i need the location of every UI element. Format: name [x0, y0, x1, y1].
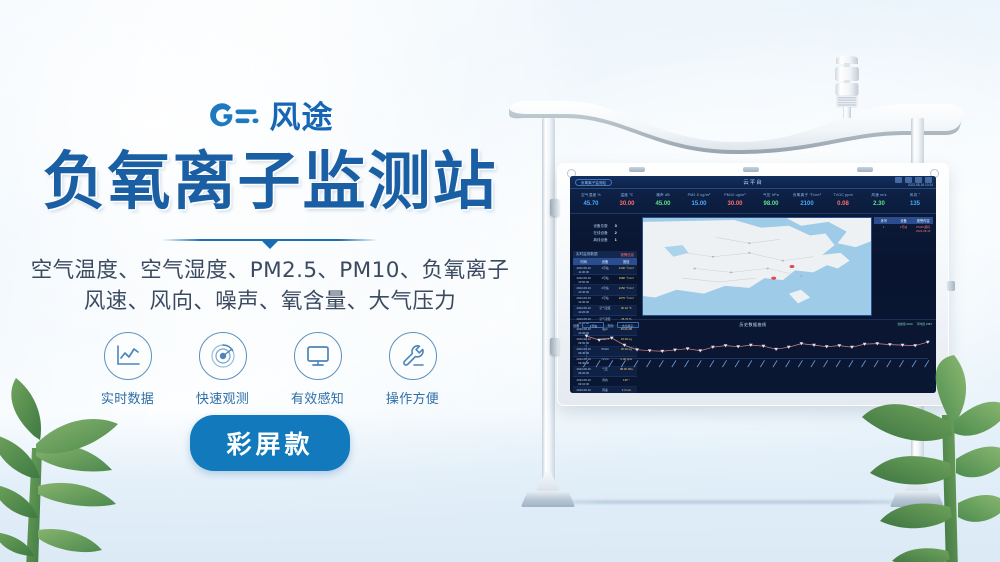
- table-cell-time: 2023-08-16 10:30:00: [573, 296, 594, 304]
- legend-item: 平均值 1987: [917, 322, 932, 326]
- metric-name: 温度 ℃: [609, 191, 645, 199]
- metric-card: 空气湿度 % 45.70: [573, 191, 609, 213]
- subtitle-line-2: 风速、风向、噪声、氧含量、大气压力: [0, 287, 540, 318]
- alarm-tag[interactable]: 报警信息: [620, 252, 634, 257]
- table-cell-device: 风向: [594, 378, 615, 386]
- grid-icon[interactable]: [895, 177, 902, 183]
- metric-card: TVOC ppm 0.08: [825, 191, 861, 213]
- windroad-g-logo-icon: [207, 100, 261, 136]
- wrench-icon: [400, 343, 426, 369]
- alarm-message: PM10 超标 2023-08-16: [913, 225, 933, 233]
- chart-metric-select[interactable]: 负氧离子: [617, 322, 639, 328]
- page-title: 负氧离子监测站: [0, 149, 540, 215]
- table-cell-value: 2075 个/cm³: [616, 296, 637, 304]
- ultrasonic-weather-sensor: [827, 52, 867, 118]
- table-row[interactable]: 2023-08-16 10:20:00空气温度30.10 ℃: [573, 306, 637, 316]
- alarm-row: 1 2号站 PM10 超标 2023-08-16: [874, 224, 933, 234]
- subtitle: 空气温度、空气湿度、PM2.5、PM10、负氧离子 风速、风向、噪声、氧含量、大…: [0, 256, 540, 317]
- decorative-leaves-right: [850, 355, 1000, 562]
- table-cell-value: 2.3 m/s: [616, 388, 637, 393]
- legend-item: 当前值 2100: [897, 322, 912, 326]
- dashboard-clock: 2023-08-16 10:24: [908, 183, 933, 187]
- metric-name: 风向 °: [897, 191, 933, 199]
- table-cell-device: 1号站: [594, 266, 615, 274]
- stat-value: 1: [615, 237, 617, 244]
- table-cell-value: 135 °: [616, 378, 637, 386]
- base-gusset-left: [535, 471, 561, 493]
- feature-item-easy-operation[interactable]: 操作方便: [383, 332, 443, 407]
- data-table-header: 实时监测数据 报警信息: [573, 251, 637, 258]
- table-row[interactable]: 2023-08-16 10:40:002号站2150 个/cm³: [573, 285, 637, 295]
- cabinet-mount-tab: [857, 167, 873, 172]
- table-cell-device: 2号站: [594, 286, 615, 294]
- feature-label: 有效感知: [288, 388, 348, 407]
- metric-strip: 空气湿度 % 45.70 温度 ℃ 30.00 噪声 dB 45.00 PM: [570, 189, 936, 214]
- metric-name: 噪声 dB: [645, 191, 681, 199]
- dashboard-body: 设备总数 3 在线设备 2 离线设备 1: [570, 214, 936, 319]
- table-cell-value: 30.10 ℃: [616, 306, 637, 314]
- line-chart-icon: [115, 344, 141, 368]
- metric-name: 空气湿度 %: [573, 191, 609, 199]
- metric-value: 45.70: [573, 199, 609, 210]
- dashboard-topbar: 负氧离子监测站 云平台 2023-08-16 10:24: [570, 176, 936, 189]
- table-cell-time: 2023-08-16 09:10:00: [573, 378, 594, 386]
- title-divider: [0, 235, 540, 251]
- metric-value: 30.00: [717, 199, 753, 210]
- device-stats: 设备总数 3 在线设备 2 离线设备 1: [573, 217, 637, 248]
- metric-name: 风速 m/s: [861, 191, 897, 199]
- table-cell-device: 风速: [594, 388, 615, 393]
- table-cell-time: 2023-08-16 09:00:00: [573, 388, 594, 393]
- feature-circle: [294, 332, 342, 380]
- color-screen-model-button[interactable]: 彩屏款: [190, 415, 349, 471]
- table-title: 实时监测数据: [576, 252, 598, 257]
- stat-value: 2: [615, 230, 617, 237]
- chart-device-select[interactable]: 1号站: [582, 322, 604, 328]
- cabinet-mount-tab: [629, 167, 645, 172]
- cabinet-hinge: [550, 199, 559, 216]
- feature-item-fast-observation[interactable]: 快速观测: [193, 332, 253, 407]
- base-plate-left: [521, 491, 575, 507]
- station-selector-pill[interactable]: 负氧离子监测站: [575, 179, 612, 186]
- cabinet-mount-tab: [743, 167, 759, 172]
- table-column-headers: 时间 设备 数值: [573, 258, 637, 265]
- table-cell-time: 2023-08-16 10:20:00: [573, 306, 594, 314]
- table-cell-device: 1号站: [594, 276, 615, 284]
- feature-circle: [199, 332, 247, 380]
- monitor-screen-icon: [305, 344, 331, 368]
- banner-stage: 风途 负氧离子监测站 空气温度、空气湿度、PM2.5、PM10、负氧离子 风速、…: [0, 0, 1000, 562]
- chart-metric-label: 指标: [607, 323, 613, 328]
- dashboard-title: 云平台: [743, 178, 763, 186]
- column-header: 设备: [894, 217, 914, 224]
- stat-row: 设备总数 3: [573, 223, 637, 230]
- table-cell-value: 2100 个/cm³: [616, 266, 637, 274]
- metric-card: 温度 ℃ 30.00: [609, 191, 645, 213]
- metric-value: 30.00: [609, 199, 645, 210]
- table-cell-time: 2023-08-16 10:40:00: [573, 286, 594, 294]
- table-row[interactable]: 2023-08-16 10:50:001号站1980 个/cm³: [573, 275, 637, 285]
- stat-row: 在线设备 2: [573, 230, 637, 237]
- alarm-table-header: 序号 设备 报警内容: [874, 217, 933, 224]
- support-post-left: [542, 118, 555, 500]
- table-row[interactable]: 2023-08-16 10:30:001号站2075 个/cm³: [573, 296, 637, 306]
- metric-card: PM10 ug/m³ 30.00: [717, 191, 753, 213]
- alarm-no: 1: [874, 225, 894, 233]
- column-header: 数值: [616, 259, 637, 264]
- metric-card: PM2.5 ug/m³ 15.00: [681, 191, 717, 213]
- metric-value: 0.08: [825, 199, 861, 210]
- table-row[interactable]: 2023-08-16 09:10:00风向135 °: [573, 377, 637, 387]
- column-header: 时间: [573, 259, 594, 264]
- table-cell-value: 1980 个/cm³: [616, 276, 637, 284]
- metric-name: PM10 ug/m³: [717, 191, 753, 199]
- divider-triangle-icon: [261, 240, 279, 249]
- brand-logo: 风途: [0, 100, 540, 136]
- feature-item-effective-sensing[interactable]: 有效感知: [288, 332, 348, 407]
- column-header: 序号: [874, 217, 894, 224]
- table-cell-device: 1号站: [594, 296, 615, 304]
- brand-name: 风途: [270, 103, 334, 134]
- decorative-leaves-left: [0, 378, 167, 562]
- metric-value: 2100: [789, 199, 825, 210]
- alarm-device: 2号站: [894, 225, 914, 233]
- column-header: 报警内容: [913, 217, 933, 224]
- table-cell-time: 2023-08-16 10:50:00: [573, 276, 594, 284]
- metric-card: 负氧离子 个/cm³ 2100: [789, 191, 825, 213]
- table-cell-time: 2023-08-16 11:00:00: [573, 266, 594, 274]
- metric-card: 噪声 dB 45.00: [645, 191, 681, 213]
- stat-label: 在线设备: [593, 230, 607, 237]
- metric-value: 45.00: [645, 199, 681, 210]
- cabinet-hinge: [550, 338, 559, 355]
- metric-value: 15.00: [681, 199, 717, 210]
- chart-title: 历史数据曲线: [740, 322, 767, 328]
- dashboard-left-panel: 设备总数 3 在线设备 2 离线设备 1: [570, 214, 640, 319]
- stat-row: 离线设备 1: [573, 237, 637, 244]
- metric-name: 负氧离子 个/cm³: [789, 191, 825, 199]
- feature-label: 快速观测: [193, 388, 253, 407]
- table-cell-device: 空气温度: [594, 306, 615, 314]
- cabinet-lock-icon[interactable]: [947, 281, 955, 291]
- metric-name: TVOC ppm: [825, 191, 861, 199]
- radar-sensor-icon: [210, 343, 236, 369]
- china-map[interactable]: [642, 217, 872, 316]
- metric-value: 2.30: [861, 199, 897, 210]
- table-row[interactable]: 2023-08-16 11:00:001号站2100 个/cm³: [573, 265, 637, 275]
- metric-name: 气压 hPa: [753, 191, 789, 199]
- metric-value: 98.00: [753, 199, 789, 210]
- stat-label: 设备总数: [593, 223, 607, 230]
- subtitle-line-1: 空气温度、空气湿度、PM2.5、PM10、负氧离子: [0, 256, 540, 287]
- chart-device-label: 设备: [573, 323, 579, 328]
- dashboard-right-panel: 序号 设备 报警内容 1 2号站 PM10 超标 2023-08-16: [874, 214, 936, 319]
- table-row[interactable]: 2023-08-16 09:00:00风速2.3 m/s: [573, 387, 637, 393]
- table-cell-value: 2150 个/cm³: [616, 286, 637, 294]
- metric-card: 风速 m/s 2.30: [861, 191, 897, 213]
- feature-label: 操作方便: [383, 388, 443, 407]
- wave-canopy: [505, 96, 967, 166]
- metric-card: 风向 ° 135: [897, 191, 933, 213]
- metric-name: PM2.5 ug/m³: [681, 191, 717, 199]
- feature-circle: [104, 332, 152, 380]
- metric-value: 135: [897, 199, 933, 210]
- chart-legend: 当前值 2100 平均值 1987: [897, 322, 932, 326]
- metric-card: 气压 hPa 98.00: [753, 191, 789, 213]
- feature-circle: [389, 332, 437, 380]
- stat-value: 3: [615, 223, 617, 230]
- stat-label: 离线设备: [593, 237, 607, 244]
- column-header: 设备: [594, 259, 615, 264]
